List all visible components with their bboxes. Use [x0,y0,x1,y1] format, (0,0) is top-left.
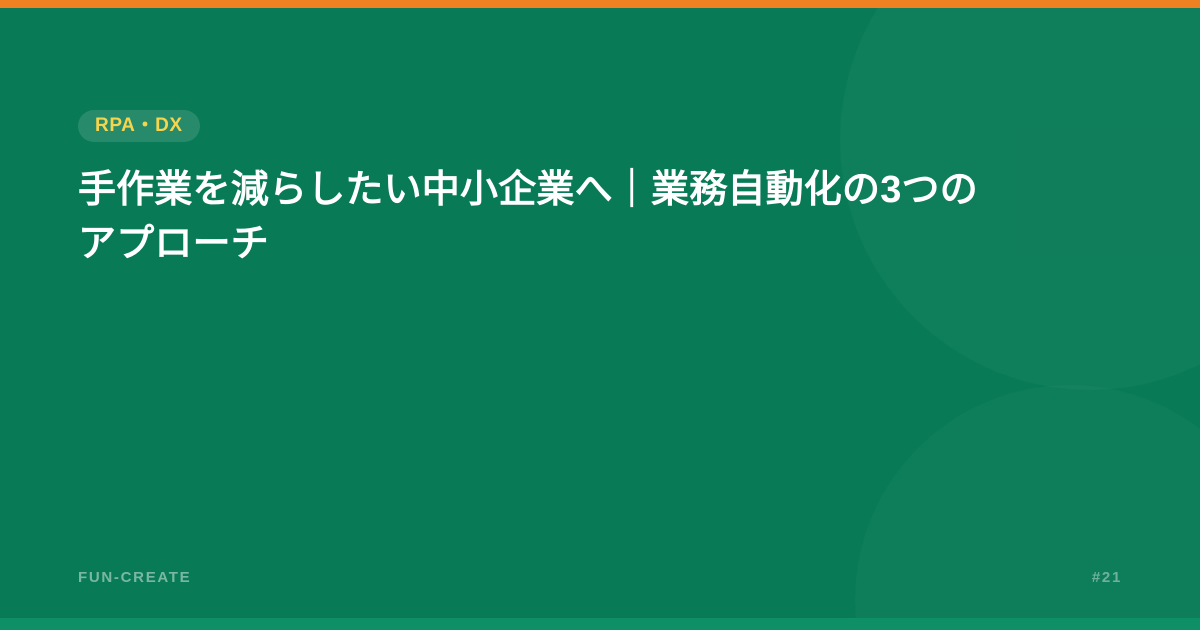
brand-name: FUN-CREATE [78,569,191,586]
cover-content: RPA・DX 手作業を減らしたい中小企業へ｜業務自動化の3つの アプローチ [78,110,1122,272]
page-title: 手作業を減らしたい中小企業へ｜業務自動化の3つの アプローチ [78,164,978,272]
issue-number: #21 [1092,569,1122,586]
bottom-accent-band [0,618,1200,630]
top-accent-bar [0,0,1200,8]
article-cover-card: RPA・DX 手作業を減らしたい中小企業へ｜業務自動化の3つの アプローチ FU… [0,0,1200,630]
cover-footer: FUN-CREATE #21 [78,569,1122,586]
category-badge[interactable]: RPA・DX [78,110,200,142]
decorative-circle-bottom-icon [855,385,1200,630]
